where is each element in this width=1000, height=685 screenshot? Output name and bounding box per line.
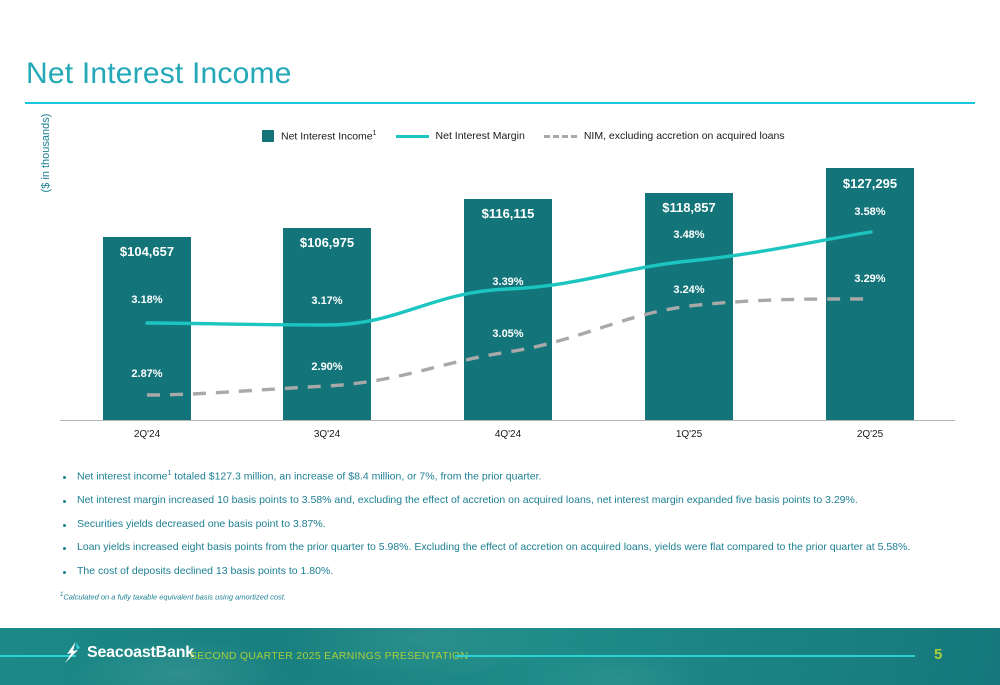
footer-subtitle: SECOND QUARTER 2025 EARNINGS PRESENTATIO…: [190, 650, 468, 662]
x-tick-1q25: 1Q'25: [645, 429, 733, 440]
page-number: 5: [934, 646, 942, 663]
nim-excluding-accretion-line: [147, 299, 871, 395]
sail-logo-icon: [62, 641, 82, 665]
x-tick-3q24: 3Q'24: [283, 429, 371, 440]
list-item: The cost of deposits declined 13 basis p…: [60, 565, 970, 578]
bullet-text: Loan yields increased eight basis points…: [77, 541, 910, 554]
list-item: Loan yields increased eight basis points…: [60, 541, 970, 554]
seacoast-bank-logo: SeacoastBank: [62, 641, 194, 665]
bullet-dot-icon: [63, 547, 66, 550]
net-interest-margin-line: [147, 232, 871, 325]
bullet-text: Net interest income1 totaled $127.3 mill…: [77, 470, 541, 484]
x-tick-2q24: 2Q'24: [103, 429, 191, 440]
bullet-text: The cost of deposits declined 13 basis p…: [77, 565, 333, 578]
list-item: Securities yields decreased one basis po…: [60, 518, 970, 531]
footer-divider: [455, 655, 915, 657]
bullet-text: Net interest margin increased 10 basis p…: [77, 494, 858, 507]
bullet-dot-icon: [63, 476, 66, 479]
bullet-dot-icon: [63, 524, 66, 527]
bullet-dot-icon: [63, 500, 66, 503]
footnote: 1Calculated on a fully taxable equivalen…: [60, 592, 286, 602]
footer-logo-text: SeacoastBank: [87, 644, 194, 662]
bullet-text: Securities yields decreased one basis po…: [77, 518, 326, 531]
chart: ($ in thousands) $104,657 $106,975 $116,…: [0, 0, 1000, 460]
bullet-dot-icon: [63, 571, 66, 574]
list-item: Net interest income1 totaled $127.3 mill…: [60, 470, 970, 484]
bullet-list: Net interest income1 totaled $127.3 mill…: [60, 470, 970, 589]
chart-line-overlay: [0, 0, 1000, 460]
x-tick-2q25: 2Q'25: [826, 429, 914, 440]
x-tick-4q24: 4Q'24: [464, 429, 552, 440]
list-item: Net interest margin increased 10 basis p…: [60, 494, 970, 507]
